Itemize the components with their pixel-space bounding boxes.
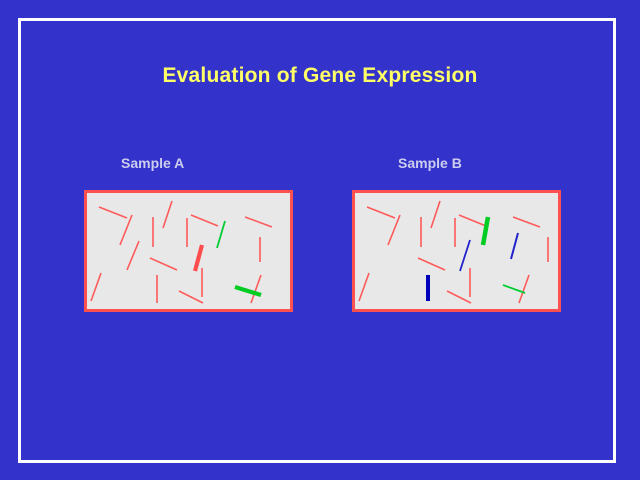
gel-band-faint <box>163 201 172 228</box>
panel-label-sample-b: Sample B <box>398 155 462 171</box>
gel-band-faint <box>191 215 218 226</box>
gel-band-faint <box>359 273 369 301</box>
gel-band-faint <box>513 217 540 227</box>
gel-panel-sample-b <box>352 190 561 312</box>
gel-band-strong-green <box>483 217 488 245</box>
panel-label-sample-a: Sample A <box>121 155 184 171</box>
gel-band-faint <box>251 275 261 303</box>
gel-band-faint <box>367 207 395 218</box>
gel-band-faint <box>120 215 132 245</box>
gel-band-faint <box>519 275 529 303</box>
band-layer-sample-a <box>87 193 290 309</box>
gel-band-faint <box>150 258 177 270</box>
gel-band-faint <box>179 291 203 303</box>
page-title: Evaluation of Gene Expression <box>0 64 640 88</box>
gel-band-faint <box>447 291 471 303</box>
gel-band-faint <box>459 215 486 226</box>
gel-band-faint-blue <box>460 240 470 271</box>
gel-band-faint <box>418 258 445 270</box>
gel-band-faint <box>388 215 400 245</box>
gel-band-strong <box>195 245 202 271</box>
gel-band-faint-green <box>217 221 225 248</box>
gel-band-faint <box>431 201 440 228</box>
gel-band-faint <box>245 217 272 227</box>
gel-band-faint <box>99 207 127 218</box>
gel-band-faint <box>91 273 101 301</box>
gel-band-faint-blue <box>511 233 518 259</box>
band-layer-sample-b <box>355 193 558 309</box>
slide-canvas: Evaluation of Gene Expression Sample A S… <box>0 0 640 480</box>
gel-band-faint-green <box>503 285 525 293</box>
gel-panel-sample-a <box>84 190 293 312</box>
gel-band-faint <box>127 241 139 270</box>
